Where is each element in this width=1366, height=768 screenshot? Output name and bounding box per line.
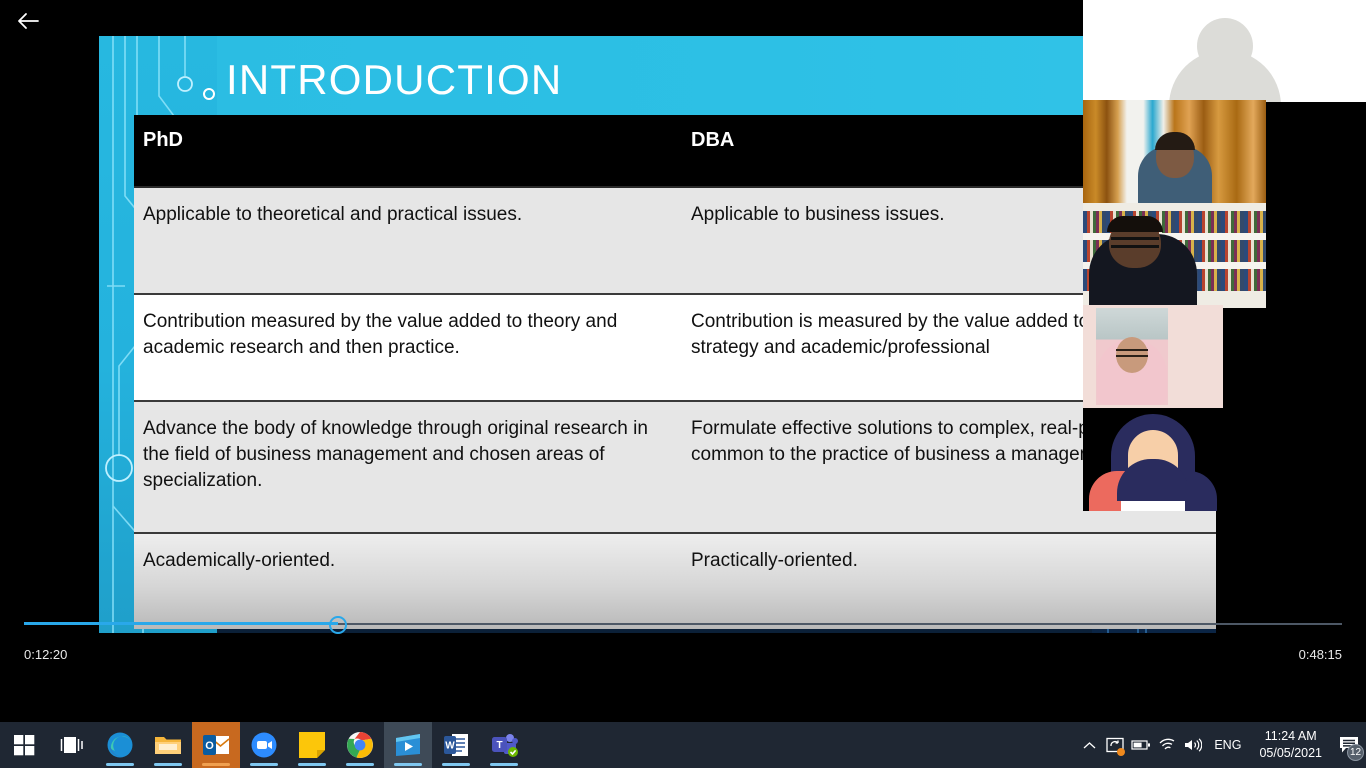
teams-icon[interactable]: T <box>480 722 528 768</box>
window-controls <box>1228 0 1366 32</box>
video-feed <box>1083 203 1266 308</box>
cell-phd-1: Applicable to theoretical and practical … <box>134 187 682 294</box>
cell-phd-2: Contribution measured by the value added… <box>134 294 682 401</box>
wifi-icon[interactable] <box>1154 722 1180 768</box>
sync-icon[interactable] <box>1102 722 1128 768</box>
running-indicator <box>298 763 326 766</box>
system-tray: ENG 11:24 AM 05/05/2021 12 <box>1076 722 1366 768</box>
person-hair <box>1107 216 1163 232</box>
svg-text:T: T <box>496 740 502 751</box>
video-player[interactable]: INTRODUCTION PhD DBA Applicable to theor… <box>0 0 1366 722</box>
table-row: Applicable to theoretical and practical … <box>134 187 1216 294</box>
minimize-button[interactable] <box>1228 0 1274 32</box>
desktop-root: INTRODUCTION PhD DBA Applicable to theor… <box>0 0 1366 768</box>
video-inner-frame <box>1096 308 1168 405</box>
seek-bar[interactable] <box>0 614 1366 634</box>
presentation-slide: INTRODUCTION PhD DBA Applicable to theor… <box>99 36 1216 633</box>
person-hair <box>1155 132 1195 150</box>
language-indicator[interactable]: ENG <box>1206 738 1249 752</box>
running-indicator <box>154 763 182 766</box>
notification-count-badge: 12 <box>1347 744 1364 761</box>
running-indicator <box>442 763 470 766</box>
person-glasses <box>1111 237 1159 248</box>
person-glasses <box>1116 349 1148 357</box>
table-header-phd: PhD <box>134 115 682 187</box>
clock-date: 05/05/2021 <box>1259 745 1322 762</box>
movies-tv-icon[interactable] <box>384 722 432 768</box>
task-view-button[interactable] <box>48 722 96 768</box>
current-time-label: 0:12:20 <box>24 647 67 662</box>
running-indicator <box>490 763 518 766</box>
running-indicator <box>106 763 134 766</box>
clock-time: 11:24 AM <box>1265 728 1317 745</box>
title-bullet-icon <box>203 88 215 100</box>
notification-center-button[interactable]: 12 <box>1332 722 1366 768</box>
comparison-table: PhD DBA Applicable to theoretical and pr… <box>134 115 1216 629</box>
edge-icon[interactable] <box>96 722 144 768</box>
table-row: Advance the body of knowledge through or… <box>134 401 1216 533</box>
running-indicator <box>394 763 422 766</box>
zoom-icon[interactable] <box>240 722 288 768</box>
running-indicator <box>346 763 374 766</box>
avatar-body-icon <box>1169 50 1281 102</box>
video-feed <box>1083 100 1266 208</box>
slide-title: INTRODUCTION <box>226 56 562 104</box>
svg-text:W: W <box>445 741 455 752</box>
participant-tile-illustrated-avatar[interactable] <box>1083 408 1223 511</box>
svg-text:O: O <box>205 740 214 752</box>
total-time-label: 0:48:15 <box>1299 647 1342 662</box>
table-row: Contribution measured by the value added… <box>134 294 1216 401</box>
file-explorer-icon[interactable] <box>144 722 192 768</box>
clock[interactable]: 11:24 AM 05/05/2021 <box>1249 728 1332 762</box>
chrome-icon[interactable] <box>336 722 384 768</box>
video-feed <box>1083 305 1223 408</box>
avatar-illustration <box>1083 408 1223 511</box>
seek-handle[interactable] <box>329 616 347 634</box>
cell-phd-3: Advance the body of knowledge through or… <box>134 401 682 533</box>
participant-tile-man-bookshelf[interactable] <box>1083 203 1266 308</box>
windows-taskbar: O <box>0 722 1366 768</box>
start-button[interactable] <box>0 722 48 768</box>
participant-tile-man-curtains[interactable] <box>1083 100 1266 208</box>
outlook-icon[interactable]: O <box>192 722 240 768</box>
close-button[interactable] <box>1320 0 1366 32</box>
battery-icon[interactable] <box>1128 722 1154 768</box>
running-indicator <box>250 763 278 766</box>
sticky-notes-icon[interactable] <box>288 722 336 768</box>
restore-button[interactable] <box>1274 0 1320 32</box>
running-indicator <box>202 763 230 766</box>
seek-progress <box>24 622 338 625</box>
participant-tile-woman-pink-hijab[interactable] <box>1083 305 1223 408</box>
back-button[interactable] <box>10 4 46 38</box>
table-header-row: PhD DBA <box>134 115 1216 187</box>
sync-status-dot <box>1117 748 1125 756</box>
word-icon[interactable]: W <box>432 722 480 768</box>
speaker-icon[interactable] <box>1180 722 1206 768</box>
chevron-up-icon[interactable] <box>1076 722 1102 768</box>
